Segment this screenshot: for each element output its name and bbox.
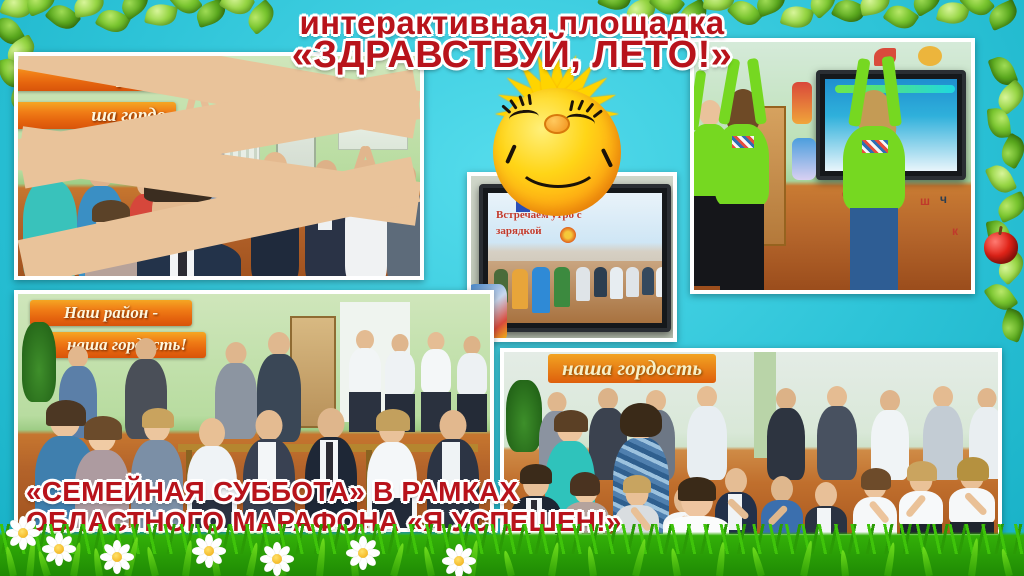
person-figure xyxy=(766,388,806,480)
photo-top-left: район - ша гордо xyxy=(14,52,424,280)
daisy-flower-icon xyxy=(350,540,376,566)
wall-decoration-icon xyxy=(792,82,812,124)
caption-line1: «СЕМЕЙНАЯ СУББОТА» В РАМКАХ xyxy=(0,476,1024,508)
daisy-flower-icon xyxy=(10,520,36,546)
screen-text-line1: Встречаем утро с xyxy=(496,209,582,221)
daisy-flower-icon xyxy=(104,544,130,570)
sun-left-eye xyxy=(508,108,540,127)
wall-decoration-icon xyxy=(792,138,816,180)
daisy-flower-icon xyxy=(46,536,72,562)
wall-banner-bottom-right: наша гордость xyxy=(548,354,716,383)
person-figure xyxy=(842,92,906,290)
page-title-line2: «ЗДРАВСТВУЙ, ЛЕТО!» xyxy=(0,34,1024,77)
wall-banner-bottom-left-line1: Наш район - xyxy=(30,300,192,326)
screen-text-line2: зарядкой xyxy=(496,225,542,237)
sun-right-eye xyxy=(564,112,596,132)
apple-icon xyxy=(984,232,1018,264)
daisy-flower-icon xyxy=(196,538,222,564)
person-figure xyxy=(686,386,728,480)
daisy-flower-icon xyxy=(446,548,472,574)
photo-center: Встречаем утро с зарядкой xyxy=(467,172,677,342)
grass-border-decoration xyxy=(0,530,1024,576)
poster-canvas: район - ша гордо xyxy=(0,0,1024,576)
display-screen-frame: Встречаем утро с зарядкой xyxy=(479,184,671,332)
banner-text: Наш район - xyxy=(64,303,158,323)
daisy-flower-icon xyxy=(264,546,290,572)
person-figure xyxy=(816,386,858,480)
sun-nose xyxy=(544,114,570,134)
person-figure xyxy=(714,92,770,290)
right-leaves-decoration xyxy=(982,60,1024,360)
